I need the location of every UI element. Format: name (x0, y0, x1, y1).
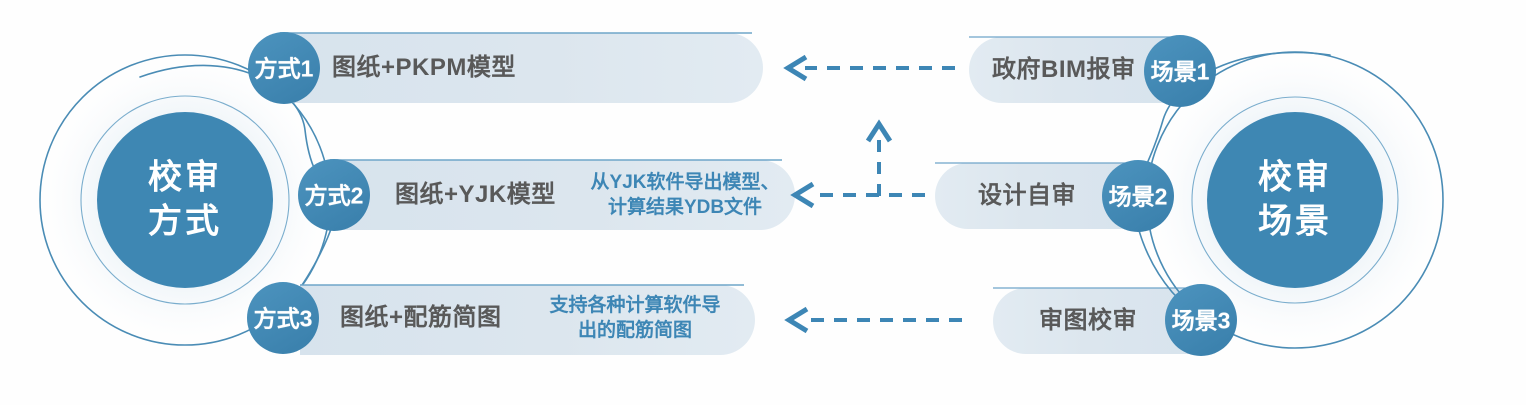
method-title-2: 图纸+YJK模型 (395, 183, 556, 207)
method-note-2: 从YJK软件导出模型、 计算结果YDB文件 (575, 170, 795, 220)
arrow-head-scenario3-to-method3 (789, 309, 807, 331)
method-badge-3-label[interactable]: 方式3 (254, 308, 313, 331)
scenario-title-2: 设计自审 (978, 184, 1076, 208)
scenario-badge-3-label[interactable]: 场景3 (1172, 310, 1231, 333)
scenario-badge-1-label[interactable]: 场景1 (1151, 61, 1210, 84)
arrow-head-branch-up (868, 124, 890, 141)
arrow-head-scenario2-to-method2 (795, 184, 813, 206)
scenario-title-1: 政府BIM报审 (992, 58, 1136, 82)
diagram-canvas: 校审 方式 校审 场景 方式1 方式2 方式3 图纸+PKPM模型 图纸+YJK… (0, 0, 1526, 405)
method-note-3: 支持各种计算软件导 出的配筋简图 (520, 293, 750, 343)
left-hub-label: 校审 方式 (148, 156, 222, 243)
method-title-1: 图纸+PKPM模型 (332, 56, 516, 80)
scenario-title-3: 审图校审 (1039, 309, 1137, 333)
right-hub-label: 校审 场景 (1258, 156, 1332, 243)
scenario-badge-2-label[interactable]: 场景2 (1109, 186, 1168, 209)
method-title-3: 图纸+配筋简图 (340, 306, 502, 330)
method-badge-1-label[interactable]: 方式1 (255, 58, 314, 81)
method-badge-2-label[interactable]: 方式2 (305, 185, 364, 208)
arrow-head-scenario1-to-method1 (788, 57, 806, 79)
